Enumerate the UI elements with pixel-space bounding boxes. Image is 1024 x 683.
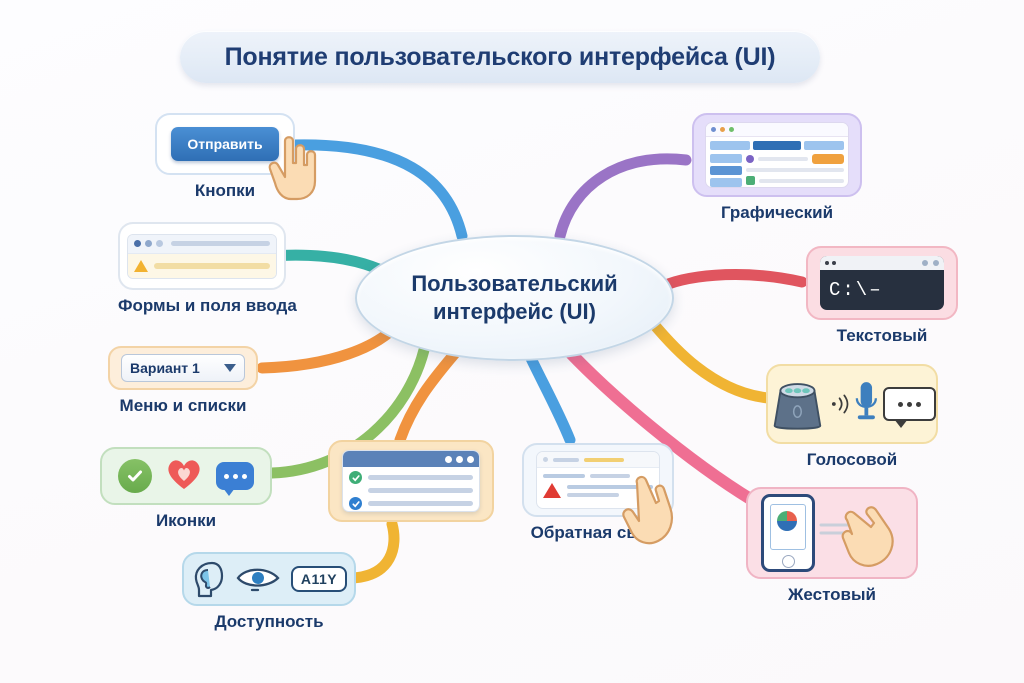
page-title: Понятие пользовательского интерфейса (UI… [180, 31, 820, 83]
speech-bubble-icon [216, 462, 254, 490]
node-buttons[interactable]: Отправить Кнопки [155, 113, 295, 201]
central-node-line1: Пользовательский [411, 270, 617, 298]
checklist-item [343, 493, 479, 510]
gesture-card [746, 487, 918, 579]
error-triangle-icon [543, 483, 561, 498]
node-accessibility-label: Доступность [182, 612, 356, 632]
central-node-line2: интерфейс (UI) [433, 298, 596, 326]
wire-graphic [560, 159, 686, 236]
node-graphic-label: Графический [692, 203, 862, 223]
feedback-dialog-icon [536, 451, 660, 509]
microphone-icon [854, 378, 879, 430]
node-feedback[interactable]: Обратная связь [522, 443, 674, 543]
node-text-label: Текстовый [806, 326, 958, 346]
menu-card: Вариант 1 [108, 346, 258, 390]
checklist-card [328, 440, 494, 522]
phone-screen [770, 504, 806, 550]
terminal-titlebar [820, 256, 944, 270]
a11y-badge: A11Y [291, 566, 347, 592]
wire-text [660, 275, 802, 288]
forms-card [118, 222, 286, 290]
wire-feedback [528, 352, 570, 440]
mindmap-canvas: Понятие пользовательского интерфейса (UI… [0, 0, 1024, 683]
page-title-text: Понятие пользовательского интерфейса (UI… [225, 43, 776, 72]
central-node: Пользовательский интерфейс (UI) [355, 235, 674, 361]
smart-speaker-icon [768, 375, 827, 433]
phone-home-button [782, 555, 795, 568]
node-menu-label: Меню и списки [108, 396, 258, 416]
terminal-prompt: C:\– [829, 279, 883, 301]
icons-card [100, 447, 272, 505]
head-ear-icon [191, 560, 225, 598]
node-forms[interactable]: Формы и поля ввода [118, 222, 297, 316]
node-checklist[interactable] [328, 440, 494, 522]
node-accessibility[interactable]: A11Y Доступность [182, 552, 356, 632]
terminal-body: C:\– [820, 270, 944, 310]
node-graphic[interactable]: Графический [692, 113, 862, 223]
check-circle-icon [118, 459, 152, 493]
smartphone-icon [761, 494, 815, 572]
checklist-window-icon [342, 450, 480, 512]
graphic-card [692, 113, 862, 197]
wire-voice [652, 322, 768, 398]
text-card: C:\– [806, 246, 958, 320]
node-icons[interactable]: Иконки [100, 447, 272, 531]
checklist-titlebar [343, 451, 479, 467]
warning-triangle-icon [134, 260, 148, 272]
check-icon [349, 497, 362, 510]
gui-window-icon [705, 122, 849, 188]
node-menu[interactable]: Вариант 1 Меню и списки [108, 346, 258, 416]
speech-bubble-icon [883, 387, 936, 421]
eye-icon [236, 563, 280, 595]
dropdown-value: Вариант 1 [130, 360, 200, 376]
node-voice-label: Голосовой [766, 450, 938, 470]
wire-buttons [292, 145, 462, 236]
checklist-item [343, 467, 479, 484]
form-window-icon [127, 234, 277, 279]
chevron-down-icon [224, 364, 236, 372]
accessibility-card: A11Y [182, 552, 356, 606]
node-forms-label: Формы и поля ввода [118, 296, 297, 316]
form-warning-row [128, 254, 276, 278]
node-voice[interactable]: Голосовой [766, 364, 938, 470]
node-text[interactable]: C:\– Текстовый [806, 246, 958, 346]
voice-card [766, 364, 938, 444]
wire-checklist [400, 352, 456, 440]
heart-icon [165, 457, 203, 496]
node-gesture-label: Жестовый [746, 585, 918, 605]
node-buttons-label: Кнопки [155, 181, 295, 201]
feedback-card [522, 443, 674, 517]
buttons-card: Отправить [155, 113, 295, 175]
node-feedback-label: Обратная связь [522, 523, 674, 543]
terminal-window-icon: C:\– [820, 256, 944, 310]
node-icons-label: Иконки [100, 511, 272, 531]
node-gesture[interactable]: Жестовый [746, 487, 918, 605]
dropdown-select[interactable]: Вариант 1 [121, 354, 245, 382]
check-icon [349, 471, 362, 484]
checklist-item [343, 484, 479, 493]
wire-a11y [352, 524, 394, 578]
swiping-hand-icon [841, 496, 903, 570]
submit-button[interactable]: Отправить [171, 127, 279, 161]
checklist-item [343, 510, 479, 512]
window-titlebar [128, 235, 276, 254]
sound-waves-icon [831, 389, 850, 419]
